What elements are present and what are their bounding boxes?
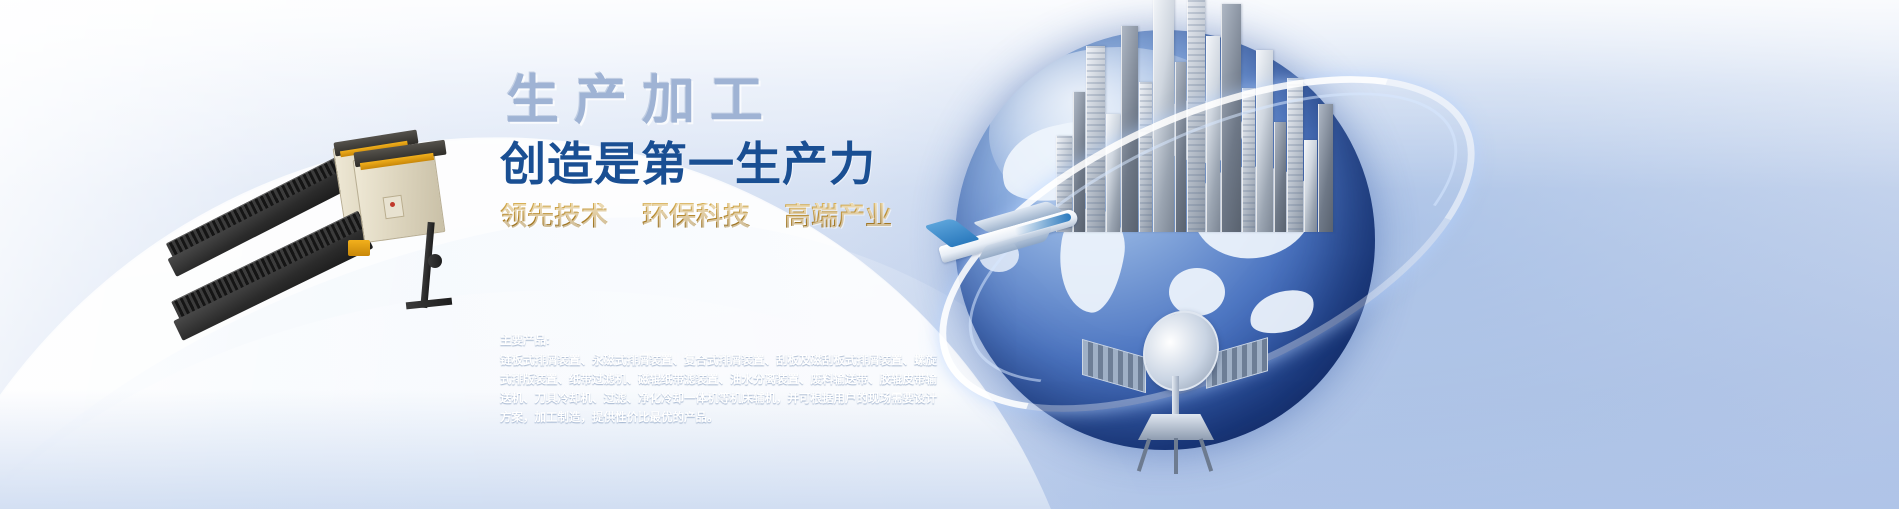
headline-block: 生产加工 创造是第一生产力 领先技术 环保科技 高端产业 bbox=[500, 74, 970, 230]
tagline-row: 领先技术 环保科技 高端产业 bbox=[500, 203, 970, 230]
satellite-icon bbox=[1080, 302, 1270, 482]
satellite-leg bbox=[1199, 438, 1213, 472]
tagline-3: 高端产业 bbox=[784, 203, 892, 230]
satellite-base bbox=[1138, 414, 1214, 440]
headline-top: 生产加工 bbox=[506, 74, 970, 127]
products-heading: 主要产品: bbox=[500, 332, 942, 351]
chip-conveyor-machine bbox=[178, 196, 498, 396]
satellite-leg bbox=[1174, 438, 1178, 474]
globe-graphic bbox=[930, 0, 1470, 502]
tagline-1: 领先技术 bbox=[500, 203, 608, 230]
satellite-mast bbox=[1172, 376, 1179, 420]
promotional-banner: 生产加工 创造是第一生产力 领先技术 环保科技 高端产业 主要产品: 链板式排屑… bbox=[0, 0, 1899, 509]
product-description-block: 主要产品: 链板式排屑装置、永磁式排屑装置、复合式排屑装置、刮板及磁刮板式排屑装… bbox=[500, 332, 942, 428]
headline-main: 创造是第一生产力 bbox=[500, 141, 970, 187]
products-body: 链板式排屑装置、永磁式排屑装置、复合式排屑装置、刮板及磁刮板式排屑装置、螺旋式排… bbox=[500, 352, 942, 428]
satellite-solar-panel-left bbox=[1082, 339, 1146, 393]
tagline-2: 环保科技 bbox=[642, 203, 750, 230]
satellite-leg bbox=[1137, 438, 1151, 472]
